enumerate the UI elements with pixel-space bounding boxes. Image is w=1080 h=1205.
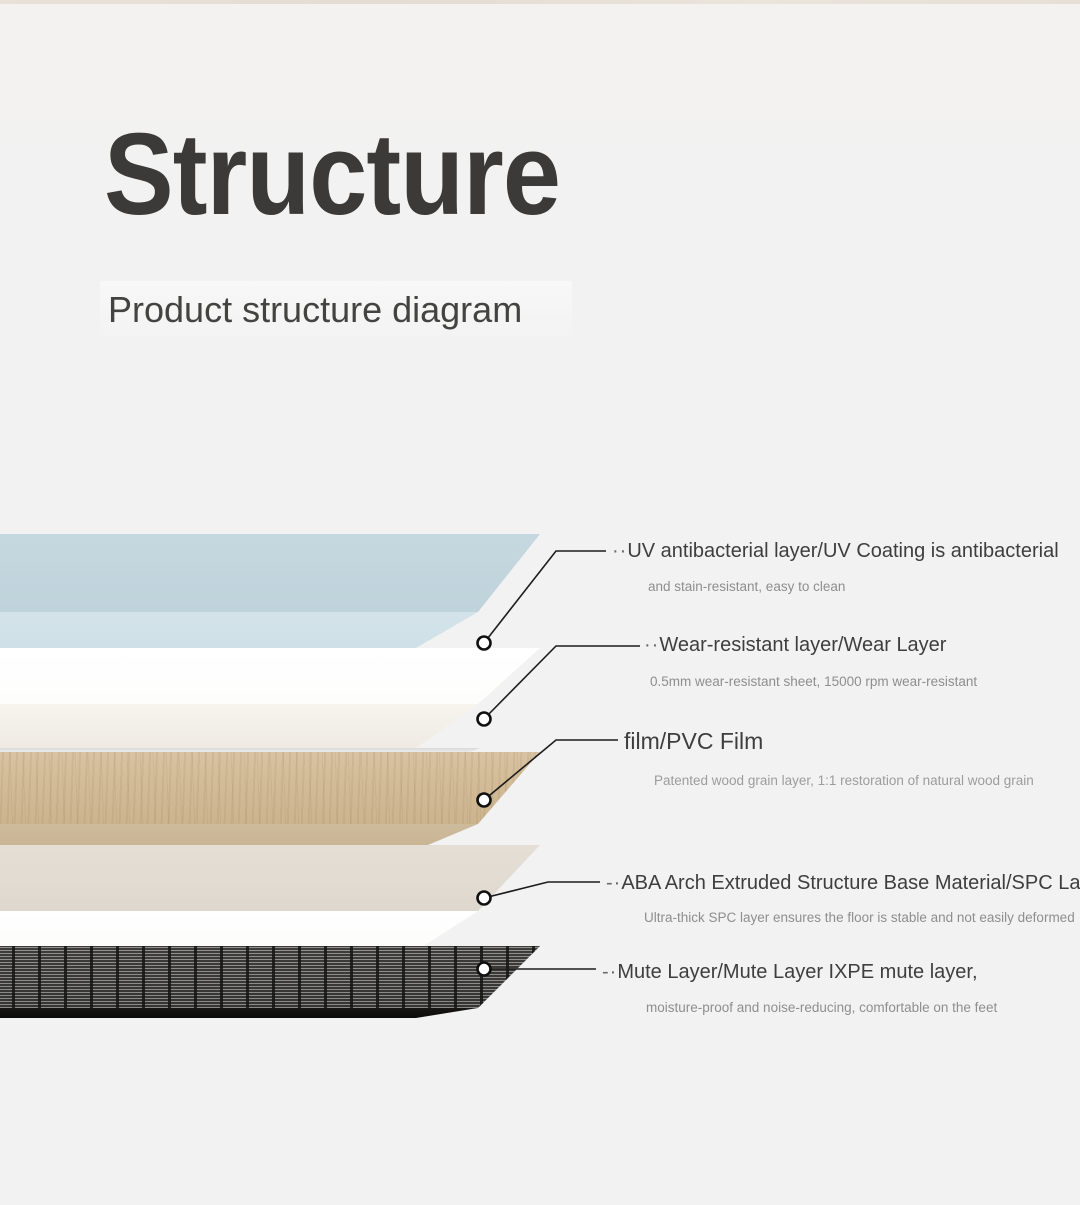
callout-film-sub: Patented wood grain layer, 1:1 restorati… xyxy=(654,771,1034,791)
callout-spc: -·ABA Arch Extruded Structure Base Mater… xyxy=(606,870,1080,928)
callout-film: film/PVC Film Patented wood grain layer,… xyxy=(624,726,1034,791)
layer-spc-front-edge xyxy=(0,911,540,951)
callout-ixpe-sub: moisture-proof and noise-reducing, comfo… xyxy=(646,998,997,1018)
callout-spc-dots: -· xyxy=(606,872,621,894)
callout-spc-sub: Ultra-thick SPC layer ensures the floor … xyxy=(644,908,1080,928)
callout-spc-title-text: ABA Arch Extruded Structure Base Materia… xyxy=(621,872,1080,894)
layer-slab-film xyxy=(0,752,540,850)
layer-uv-top-face xyxy=(0,534,540,612)
callout-wear-sub: 0.5mm wear-resistant sheet, 15000 rpm we… xyxy=(650,672,977,692)
layer-uv-front-edge xyxy=(0,612,540,648)
callout-wear: ··Wear-resistant layer/Wear Layer 0.5mm … xyxy=(644,632,977,692)
callout-spc-title: -·ABA Arch Extruded Structure Base Mater… xyxy=(606,870,1080,896)
callout-ixpe: -·Mute Layer/Mute Layer IXPE mute layer,… xyxy=(602,959,997,1018)
layer-slab-spc xyxy=(0,845,540,951)
callout-uv-sub: and stain-resistant, easy to clean xyxy=(648,577,1059,597)
page-subtitle: Product structure diagram xyxy=(108,288,522,332)
callout-film-title-text: film/PVC Film xyxy=(624,728,763,754)
heading-block: Structure xyxy=(104,118,744,230)
layer-ixpe-front-edge xyxy=(0,1008,540,1018)
page-title: Structure xyxy=(104,118,680,230)
callout-film-title: film/PVC Film xyxy=(624,726,1034,756)
callout-uv: ··UV antibacterial layer/UV Coating is a… xyxy=(612,538,1059,597)
callout-wear-title: ··Wear-resistant layer/Wear Layer xyxy=(644,632,977,658)
layer-slab-wear xyxy=(0,648,540,748)
callout-wear-dots: ·· xyxy=(644,634,659,656)
layer-wear-top-face xyxy=(0,648,540,704)
callout-ixpe-title-text: Mute Layer/Mute Layer IXPE mute layer, xyxy=(617,961,977,983)
layer-ixpe-top-face xyxy=(0,946,540,1008)
layer-wear-front-edge xyxy=(0,704,540,748)
top-edge-strip xyxy=(0,0,1080,4)
layer-stack xyxy=(0,500,620,1000)
callout-uv-dots: ·· xyxy=(612,540,627,562)
layer-slab-ixpe xyxy=(0,946,540,1018)
callout-uv-title: ··UV antibacterial layer/UV Coating is a… xyxy=(612,538,1059,564)
structure-diagram-page: Structure Product structure diagram xyxy=(0,0,1080,1205)
layer-film-top-face xyxy=(0,752,540,824)
layer-slab-uv xyxy=(0,534,540,648)
callout-uv-title-text: UV antibacterial layer/UV Coating is ant… xyxy=(627,540,1058,562)
callout-ixpe-title: -·Mute Layer/Mute Layer IXPE mute layer, xyxy=(602,959,997,985)
callout-ixpe-dots: -· xyxy=(602,961,617,983)
callout-wear-title-text: Wear-resistant layer/Wear Layer xyxy=(659,634,946,656)
layer-spc-top-face xyxy=(0,845,540,911)
